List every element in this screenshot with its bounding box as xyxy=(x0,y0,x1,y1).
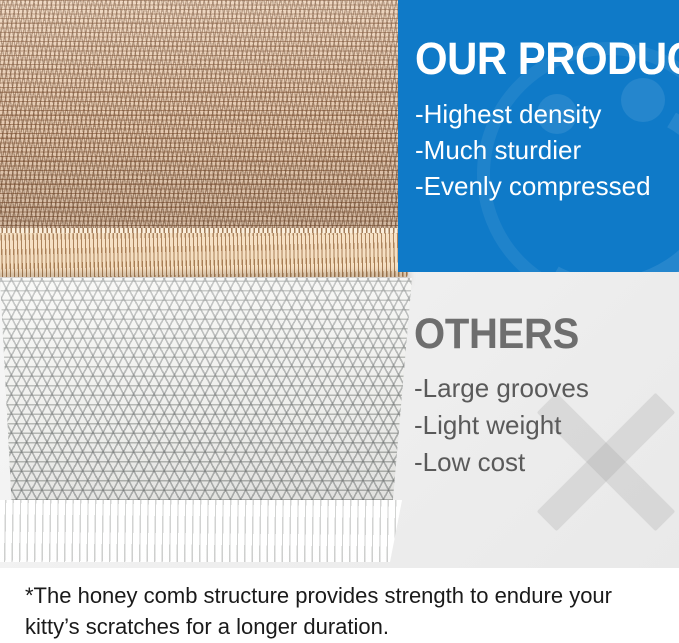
our-product-bullet: -Highest density xyxy=(415,96,673,132)
others-panel: OTHERS -Large grooves -Light weight -Low… xyxy=(398,272,679,568)
our-product-bullet-list: -Highest density -Much sturdier -Evenly … xyxy=(415,96,673,204)
others-bullet: -Light weight xyxy=(414,407,672,444)
our-product-cardboard-mat xyxy=(0,0,423,240)
cardboard-corrugated-edge xyxy=(0,233,418,277)
product-photo-area: OUR PRODUCT -Highest density -Much sturd… xyxy=(0,0,679,568)
caption-strip: *The honey comb structure provides stren… xyxy=(0,568,679,643)
mesh-mat-shading xyxy=(0,278,430,510)
our-product-panel: OUR PRODUCT -Highest density -Much sturd… xyxy=(398,0,679,272)
our-product-bullet: -Much sturdier xyxy=(415,132,673,168)
mesh-mat-fringe-edge xyxy=(0,500,410,562)
others-mesh-mat xyxy=(0,278,430,510)
others-title: OTHERS xyxy=(414,312,579,356)
infographic-root: OUR PRODUCT -Highest density -Much sturd… xyxy=(0,0,679,643)
others-bullet-list: -Large grooves -Light weight -Low cost xyxy=(414,370,672,481)
caption-text: *The honey comb structure provides stren… xyxy=(25,580,661,642)
our-product-title: OUR PRODUCT xyxy=(415,36,679,82)
others-bullet: -Low cost xyxy=(414,444,672,481)
cardboard-mat-shading xyxy=(0,0,423,240)
our-product-bullet: -Evenly compressed xyxy=(415,168,673,204)
others-bullet: -Large grooves xyxy=(414,370,672,407)
